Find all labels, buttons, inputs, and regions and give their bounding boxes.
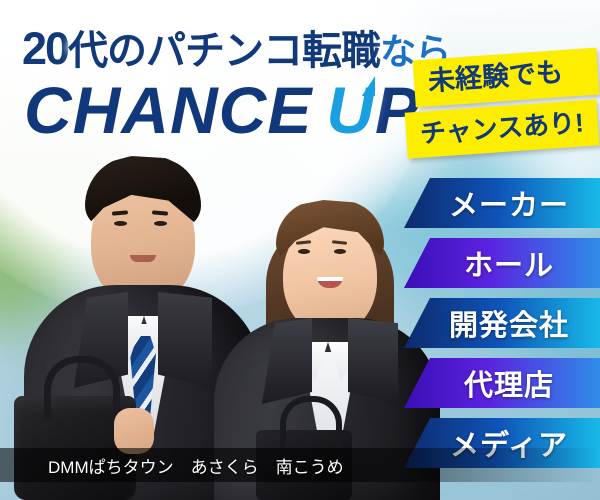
male-lapel-right [158, 292, 212, 388]
category-button-developer[interactable]: 開発会社 [404, 298, 600, 348]
female-eye-right [334, 249, 346, 254]
category-button-agency[interactable]: 代理店 [404, 358, 600, 408]
credit-bar: DMMぱちタウン あさくら 南こうめ [0, 448, 600, 482]
female-eye-left [298, 249, 310, 254]
male-eye-left [114, 221, 127, 226]
recruitment-banner[interactable]: 20代のパチンコ転職なら CHANCEUP 未経験でも チャンスあり! メーカー… [0, 0, 600, 500]
male-eye-right [154, 221, 167, 226]
headline-lead-text: 代のパチンコ転職 [68, 29, 380, 73]
logo-letter-u: U [326, 72, 375, 148]
category-button-hall[interactable]: ホール [404, 238, 600, 288]
headline-age-number: 20 [22, 23, 68, 74]
badge-line-2: チャンスあり! [405, 99, 600, 158]
chance-up-logo: CHANCEUP [24, 72, 420, 148]
credit-text: DMMぱちタウン あさくら 南こうめ [0, 453, 344, 478]
models-photo [0, 140, 440, 500]
headline: 20代のパチンコ転職なら [22, 18, 450, 76]
badge-line-1: 未経験でも [413, 48, 600, 108]
female-lapel-right [348, 318, 398, 404]
category-label: メーカー [435, 182, 569, 224]
logo-word-chance: CHANCE [24, 73, 312, 147]
category-label: 開発会社 [435, 302, 569, 344]
category-button-maker[interactable]: メーカー [404, 178, 600, 228]
experience-badge: 未経験でも チャンスあり! [414, 54, 598, 152]
category-label: 代理店 [450, 362, 554, 404]
category-label: ホール [450, 242, 554, 284]
category-list: メーカー ホール 開発会社 代理店 メディア [404, 178, 600, 478]
male-mouth [130, 255, 156, 262]
